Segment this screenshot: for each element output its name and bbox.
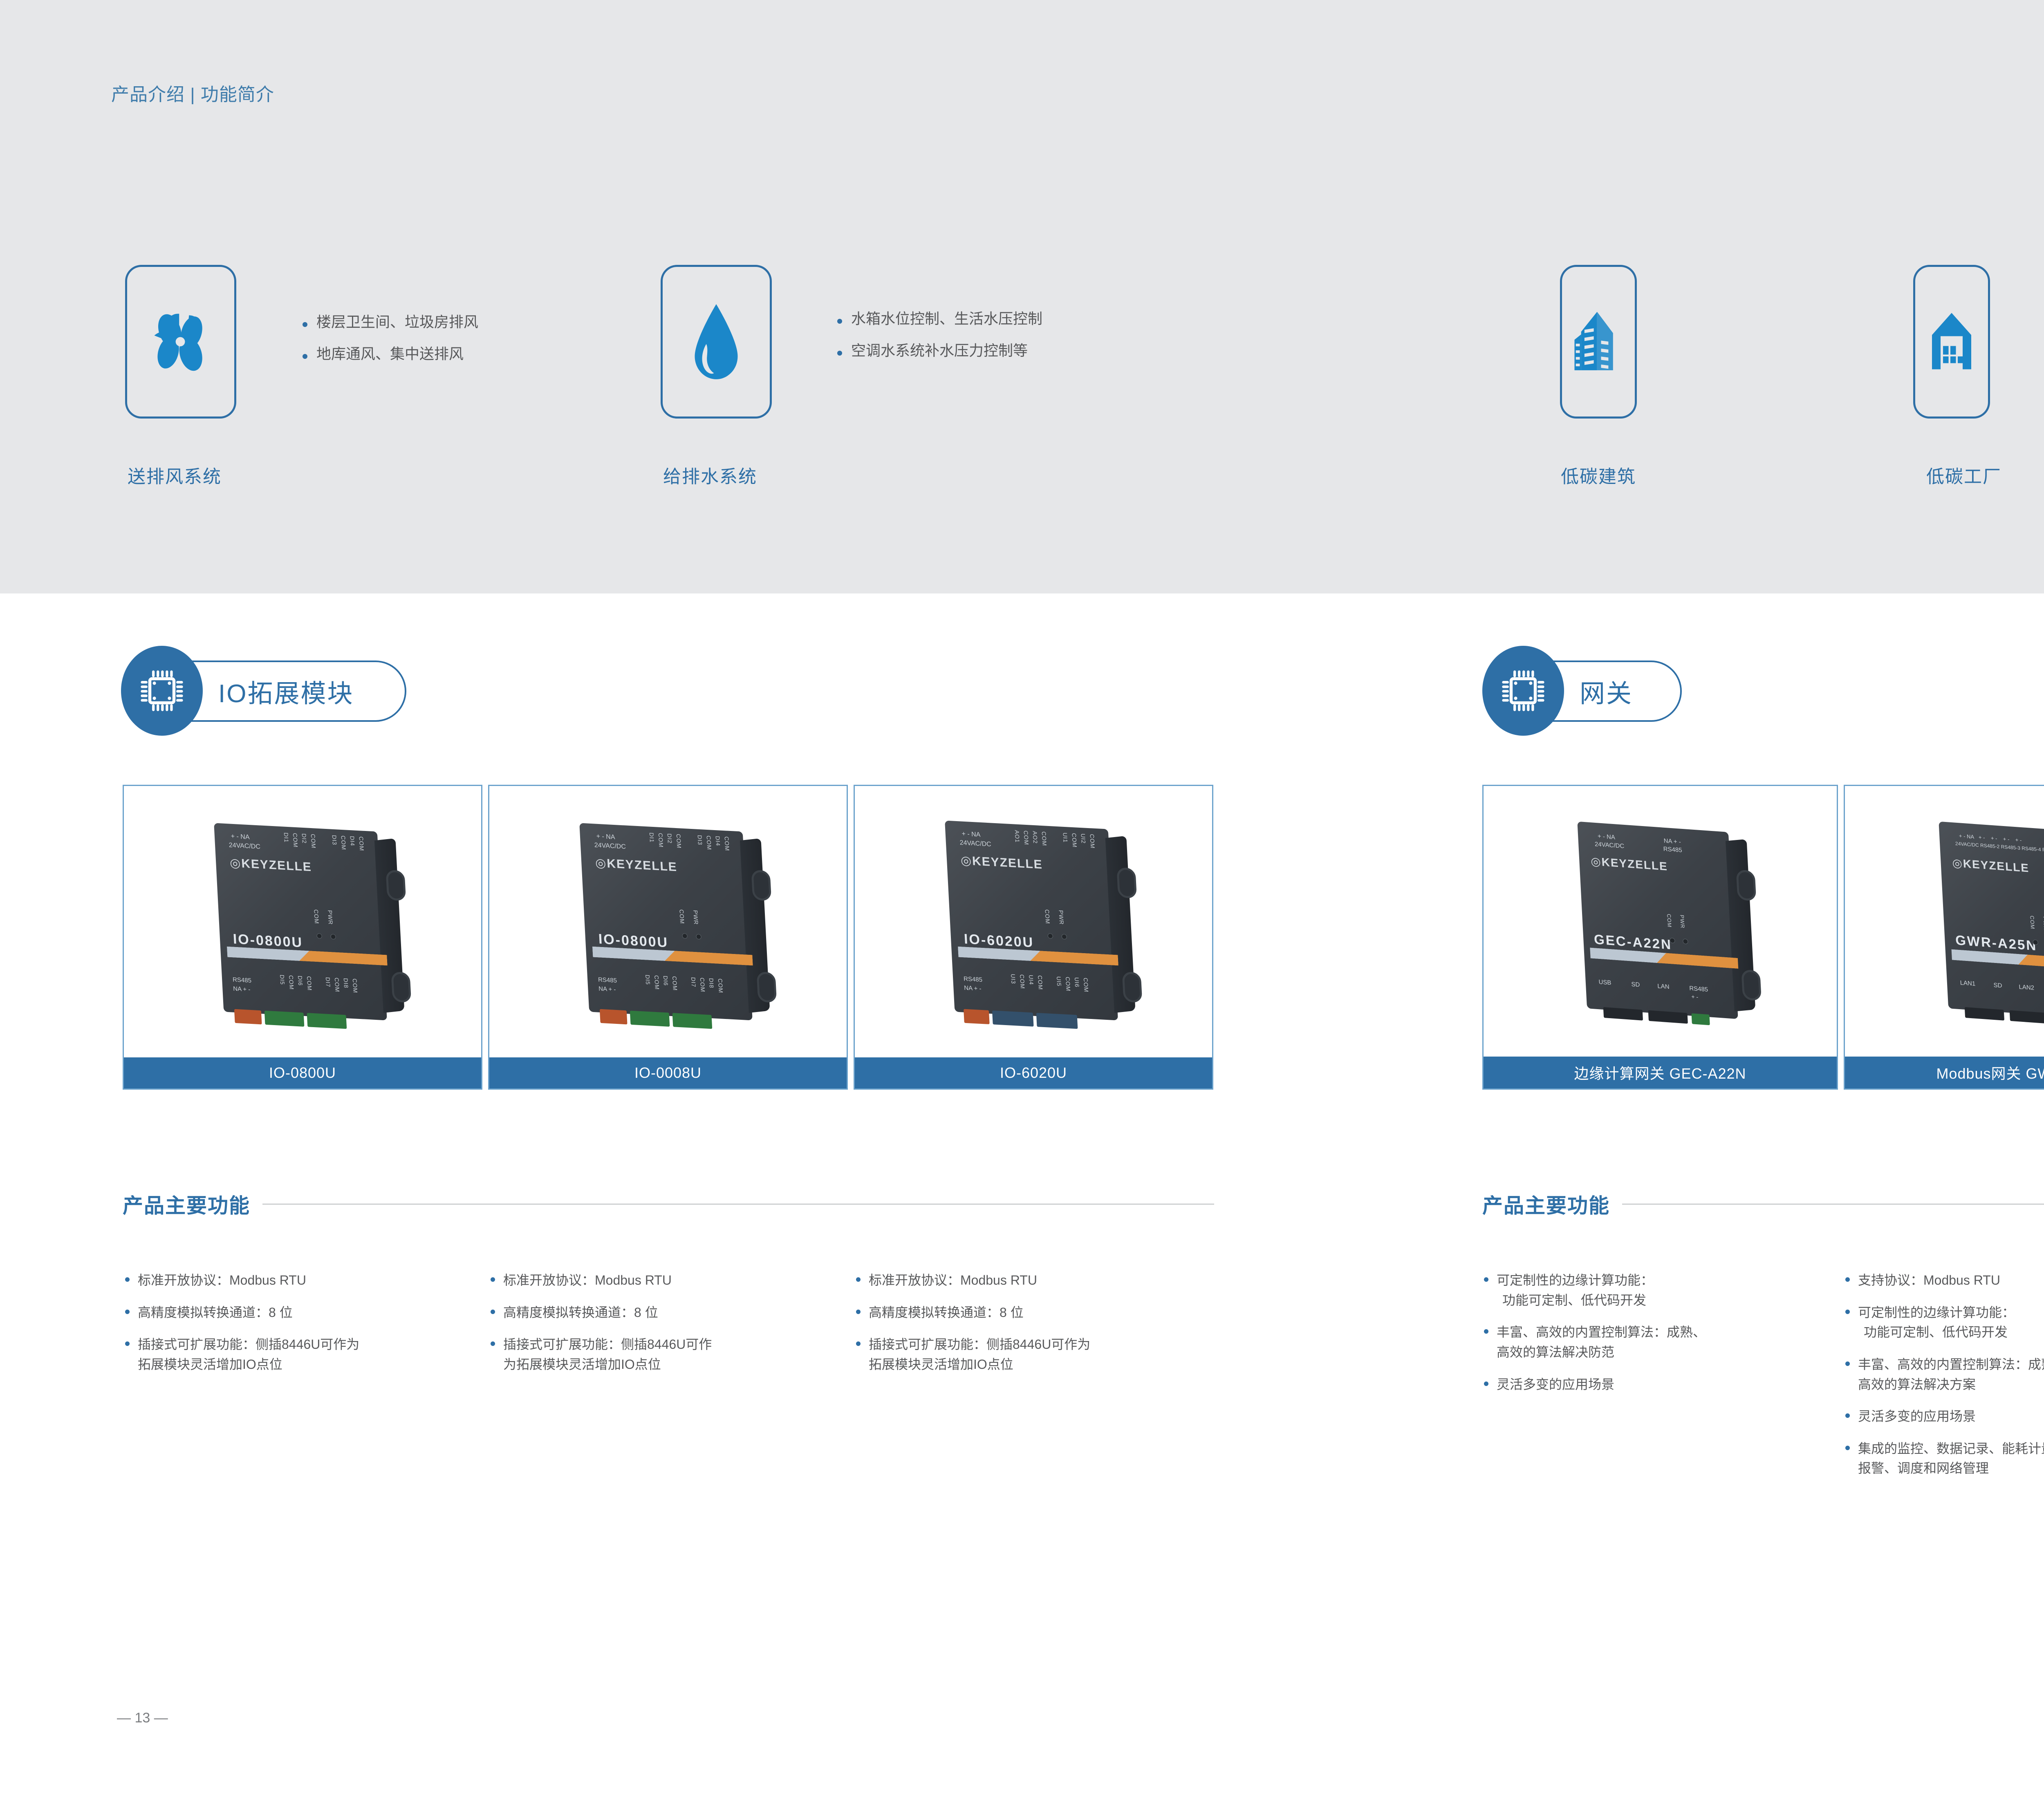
water-bullets: 水箱水位控制、生活水压控制 空调水系统补水压力控制等 [837,311,1042,375]
mount-bracket [391,972,411,1003]
features-title-gateway: 产品主要功能 [1482,1189,1610,1219]
terminal-di5: DI5 [279,974,286,985]
feature-text: 标准开放协议：Modbus RTU [869,1270,1037,1290]
terminal-di2: DI2 [666,833,673,844]
terminal-di4: DI4 [349,836,356,846]
terminal-di7: DI7 [690,977,697,987]
led-pwr [1061,934,1067,940]
list-item: 高精度模拟转换通道：8 位 [125,1303,481,1323]
terminal-ui5: UI5 [1056,976,1062,987]
led-label-pwr: PWR [2042,916,2044,931]
product-card[interactable]: + - NA 24VAC/DC DI1 COM DI2 COM DI3 COM … [123,785,482,1090]
terminal-di7: DI7 [325,977,332,987]
terminal-com: COM [1040,831,1048,846]
connector-orange [234,1009,262,1025]
port-usb: USB [1598,978,1611,986]
feature-text: 灵活多变的应用场景 [1858,1406,1976,1426]
microchip-icon [121,646,203,736]
rs485-pins-top: NA + - [1663,837,1681,846]
bullet-dot [856,1310,861,1314]
device-brand: ◎KEYZELLE [960,853,1043,872]
terminal-di1: DI1 [283,832,290,843]
office-building-icon [1572,301,1625,383]
rs485-label-top: RS485 [1663,846,1682,854]
connector-green [307,1013,347,1029]
connector-orange [964,1009,990,1024]
product-photo: + - NA 24VAC/DC AO1 COM AO2 COM UI1 COM … [855,786,1212,1057]
connector-green [1691,1013,1710,1025]
device-brand: ◎KEYZELLE [229,856,312,875]
led-com [1047,933,1053,939]
list-item: 插接式可扩展功能：侧插8446U可作为 拓展模块灵活增加IO点位 [125,1335,481,1374]
terminal-com: COM [675,834,683,849]
terminal-com: COM [1089,834,1096,849]
product-label: 边缘计算网关 GEC-A22N [1484,1057,1837,1088]
list-item: 高精度模拟转换通道：8 位 [491,1303,846,1323]
device-brand: ◎KEYZELLE [595,856,677,875]
port-block [1603,1007,1643,1021]
feature-text: 灵活多变的应用场景 [1497,1375,1614,1395]
feature-column-io-3: 标准开放协议：Modbus RTU 高精度模拟转换通道：8 位 插接式可扩展功能… [856,1270,1216,1387]
terminal-com: COM [671,976,679,991]
product-photo: + - NA 24VAC/DC DI1 COM DI2 COM DI3 COM … [489,786,847,1057]
product-label: IO-0008U [489,1057,847,1088]
features-heading-io: 产品主要功能 [123,1189,1214,1219]
mount-bracket [1741,970,1762,1001]
list-item: 丰富、高效的内置控制算法：成熟、 高效的算法解决防范 [1484,1322,1836,1362]
feature-text: 丰富、高效的内置控制算法：成熟、 高效的算法解决防范 [1497,1322,1706,1362]
bullet-text: 楼层卫生间、垃圾房排风 [316,315,478,329]
scenario-caption-factory: 低碳工厂 [1926,462,2001,488]
rs485-label: RS485 [233,976,252,984]
list-item: 灵活多变的应用场景 [1484,1375,1836,1395]
terminal-com: COM [358,836,365,851]
mount-bracket [756,972,777,1003]
terminal-di6: DI6 [662,976,669,986]
list-item: 灵活多变的应用场景 [1845,1406,2044,1426]
divider-rule [262,1204,1214,1205]
connector-blue [992,1010,1034,1026]
microchip-icon [1482,646,1564,736]
led-label-com: COM [1044,909,1051,925]
feature-text: 标准开放协议：Modbus RTU [138,1270,306,1290]
terminal-di6: DI6 [297,976,304,986]
product-card[interactable]: + - NA 24VAC/DC AO1 COM AO2 COM UI1 COM … [854,785,1213,1090]
power-pins: + - NA [596,833,615,841]
terminal-ui2: UI2 [1080,833,1087,844]
page-number-left: — 13 — [117,1710,168,1726]
feature-text: 插接式可扩展功能：侧插8446U可作 为拓展模块灵活增加IO点位 [503,1335,712,1374]
bullet-dot [491,1310,495,1314]
device-io-0008u: + - NA 24VAC/DC DI1 COM DI2 COM DI3 COM … [572,815,764,1028]
terminal-ao1: AO1 [1014,830,1021,843]
list-item: 丰富、高效的内置控制算法：成熟、 高效的算法解决方案 [1845,1355,2044,1394]
feature-column-gw-2: 支持协议：Modbus RTU 可定制性的边缘计算功能： 功能可定制、低代码开发… [1845,1270,2044,1491]
power-pins: + - NA [231,833,250,841]
product-photo: + - NA + - + - + - + - 24VAC/DC RS485-2 … [1845,786,2044,1057]
port-lan2: LAN2 [2019,983,2034,992]
connector-blue [1036,1013,1078,1029]
bullet-dot [837,319,842,324]
bullet-dot [837,351,842,356]
product-photo: + - NA 24VAC/DC NA + - RS485 ◎KEYZELLE G… [1484,786,1837,1057]
bullet-text: 水箱水位控制、生活水压控制 [851,311,1042,326]
bullet-dot [1845,1413,1850,1418]
feature-text: 标准开放协议：Modbus RTU [503,1270,672,1290]
terminal-com: COM [340,835,347,851]
terminal-com: COM [1023,831,1030,846]
list-item: 楼层卫生间、垃圾房排风 [303,315,478,329]
terminal-di2: DI2 [301,833,308,844]
port-lan1: LAN1 [1960,979,1975,987]
connector-green [264,1011,305,1027]
features-heading-gateway: 产品主要功能 [1482,1189,2044,1219]
bullet-dot [491,1277,495,1282]
terminal-com: COM [1037,975,1044,990]
bullet-dot [856,1341,861,1346]
fan-bullets: 楼层卫生间、垃圾房排风 地库通风、集中送排风 [303,315,478,378]
list-item: 集成的监控、数据记录、能耗计量、 报警、调度和网络管理 [1845,1439,2044,1478]
bullet-dot [1484,1382,1488,1386]
device-io-0800u: + - NA 24VAC/DC DI1 COM DI2 COM DI3 COM … [206,815,399,1028]
mount-bracket [1736,869,1757,901]
port-rs485-pins: + - [1691,993,1699,1000]
led-label-com: COM [2029,916,2036,930]
led-label-pwr: PWR [1679,915,1686,929]
feature-text: 可定制性的边缘计算功能： 功能可定制、低代码开发 [1497,1270,1654,1310]
power-label: 24VAC/DC [1595,841,1625,850]
terminal-com: COM [657,833,665,848]
port-rs485: RS485 [1689,985,1708,993]
terminal-com: COM [306,976,313,991]
device-gwr-a25n: + - NA + - + - + - + - 24VAC/DC RS485-2 … [1934,817,2044,1026]
rs485-label: RS485 [598,976,617,984]
scenario-card-building [1560,265,1637,419]
factory-icon [1927,301,1976,383]
bullet-dot [1845,1446,1850,1450]
section-title-gateway: 网关 [1580,673,1633,710]
scenario-caption-building: 低碳建筑 [1561,462,1636,488]
product-card[interactable]: + - NA 24VAC/DC NA + - RS485 ◎KEYZELLE G… [1482,785,1838,1090]
rs485-label: RS485 [964,975,983,983]
mount-bracket [385,870,406,901]
list-item: 地库通风、集中送排风 [303,347,478,361]
top-gray-band [0,0,2044,593]
list-item: 可定制性的边缘计算功能： 功能可定制、低代码开发 [1845,1303,2044,1342]
application-card-water [661,265,772,419]
rs485-pins: NA + - [964,985,982,992]
feature-column-io-1: 标准开放协议：Modbus RTU 高精度模拟转换通道：8 位 插接式可扩展功能… [125,1270,481,1387]
section-header-gateways: 网关 [1482,646,1728,736]
port-lan: LAN [1657,983,1670,990]
terminal-com: COM [1071,833,1078,848]
section-title-io: IO拓展模块 [218,673,354,710]
feature-text: 高精度模拟转换通道：8 位 [503,1303,658,1323]
terminal-ui4: UI4 [1028,975,1035,985]
application-card-fan [125,265,236,419]
section-header-io-modules: IO拓展模块 [121,646,432,736]
led-label-com: COM [313,909,320,925]
terminal-com: COM [292,833,299,848]
terminal-com: COM [1019,974,1026,990]
rs485-pins: NA + - [598,985,616,993]
scenario-card-factory [1913,265,1990,419]
terminal-com: COM [706,835,713,851]
power-label: 24VAC/DC [229,842,260,851]
feature-text: 丰富、高效的内置控制算法：成熟、 高效的算法解决方案 [1858,1355,2044,1394]
led-label-com: COM [678,909,686,925]
bullet-dot [125,1310,130,1314]
bullet-dot [1845,1361,1850,1366]
product-label: Modbus网关 GWR-A25N [1845,1057,2044,1088]
bullet-dot [1484,1277,1488,1282]
features-title-io: 产品主要功能 [123,1189,250,1219]
terminal-di3: DI3 [331,835,338,846]
power-label: 24VAC/DC [959,839,991,848]
bullet-dot [303,354,307,359]
bullet-dot [1484,1329,1488,1334]
terminal-com: COM [723,836,731,851]
connector-orange [600,1009,628,1025]
port-block [2010,1010,2044,1024]
application-caption-fan: 送排风系统 [128,462,222,488]
power-pins: + - NA [961,831,981,839]
feature-text: 支持协议：Modbus RTU [1858,1270,2000,1290]
bullet-dot [125,1341,130,1346]
list-item: 支持协议：Modbus RTU [1845,1270,2044,1290]
device-brand: ◎KEYZELLE [1590,854,1668,873]
feature-text: 可定制性的边缘计算功能： 功能可定制、低代码开发 [1858,1303,2015,1342]
list-item: 标准开放协议：Modbus RTU [125,1270,481,1290]
terminal-ao2: AO2 [1032,831,1039,844]
terminal-com: COM [310,834,317,849]
led-label-pwr: PWR [692,910,699,925]
terminal-com: COM [334,977,341,992]
mount-bracket [1122,972,1143,1003]
terminal-com: COM [1083,978,1090,993]
device-gec-a22n: + - NA 24VAC/DC NA + - RS485 ◎KEYZELLE G… [1572,817,1748,1026]
terminal-com: COM [352,978,359,994]
led-label-pwr: PWR [1058,910,1065,925]
list-item: 标准开放协议：Modbus RTU [491,1270,846,1290]
feature-column-gw-1: 可定制性的边缘计算功能： 功能可定制、低代码开发 丰富、高效的内置控制算法：成熟… [1484,1270,1836,1406]
bullet-dot [1845,1310,1850,1314]
power-pins: + - NA [1598,833,1616,841]
feature-text: 插接式可扩展功能：侧插8446U可作为 拓展模块灵活增加IO点位 [138,1335,359,1374]
feature-text: 高精度模拟转换通道：8 位 [869,1303,1024,1323]
led-pwr [696,934,702,940]
terminal-com: COM [653,975,661,990]
port-block [1965,1007,2004,1021]
list-item: 插接式可扩展功能：侧插8446U可作 为拓展模块灵活增加IO点位 [491,1335,846,1374]
product-photo: + - NA 24VAC/DC DI1 COM DI2 COM DI3 COM … [124,786,481,1057]
product-label: IO-6020U [855,1057,1212,1088]
bullet-dot [491,1341,495,1346]
led-pwr [330,934,336,940]
terminal-di5: DI5 [644,974,651,985]
terminal-labels-row: 24VAC/DC RS485-2 RS485-3 RS485-4 RA485-5 [1955,841,2044,854]
terminal-ui3: UI3 [1010,974,1017,984]
list-item: 空调水系统补水压力控制等 [837,343,1042,358]
product-label: IO-0800U [124,1057,481,1088]
bullet-dot [856,1277,861,1282]
terminal-ui6: UI6 [1074,977,1080,988]
mount-bracket [751,870,771,901]
terminal-ui1: UI1 [1062,833,1069,843]
connector-green [630,1011,670,1027]
feature-text: 集成的监控、数据记录、能耗计量、 报警、调度和网络管理 [1858,1439,2044,1478]
feature-text: 插接式可扩展功能：侧插8446U可作为 拓展模块灵活增加IO点位 [869,1335,1090,1374]
terminal-com: COM [717,978,724,994]
connector-green [672,1013,713,1029]
port-sd: SD [1993,982,2002,990]
led-pwr [1683,938,1688,944]
terminal-di8: DI8 [708,978,715,989]
list-item: 插接式可扩展功能：侧插8446U可作为 拓展模块灵活增加IO点位 [856,1335,1216,1374]
bullet-text: 空调水系统补水压力控制等 [851,343,1028,358]
led-label-com: COM [1666,914,1673,928]
device-io-6020u: + - NA 24VAC/DC AO1 COM AO2 COM UI1 COM … [937,815,1130,1028]
terminal-di3: DI3 [697,835,704,846]
fan-icon [142,301,220,383]
product-card[interactable]: + - NA + - + - + - + - 24VAC/DC RS485-2 … [1844,785,2044,1090]
list-item: 高精度模拟转换通道：8 位 [856,1303,1216,1323]
port-block [1648,1010,1688,1024]
port-sd: SD [1631,981,1640,989]
divider-rule [1622,1204,2044,1205]
running-header-left: 产品介绍 | 功能简介 [111,80,274,106]
terminal-com: COM [288,975,295,990]
led-com [682,933,688,939]
device-brand: ◎KEYZELLE [1952,856,2030,875]
terminal-di1: DI1 [648,832,655,843]
water-drop-icon [686,299,747,385]
mount-bracket [1116,867,1137,899]
list-item: 标准开放协议：Modbus RTU [856,1270,1216,1290]
bullet-dot [1845,1277,1850,1282]
terminal-di8: DI8 [343,978,350,989]
power-label: 24VAC/DC [594,842,626,851]
led-label-pwr: PWR [327,910,334,925]
feature-column-io-2: 标准开放协议：Modbus RTU 高精度模拟转换通道：8 位 插接式可扩展功能… [491,1270,846,1387]
terminal-di4: DI4 [715,836,722,846]
list-item: 水箱水位控制、生活水压控制 [837,311,1042,326]
application-caption-water: 给排水系统 [663,462,757,488]
bullet-dot [125,1277,130,1282]
list-item: 可定制性的边缘计算功能： 功能可定制、低代码开发 [1484,1270,1836,1310]
terminal-com: COM [1065,976,1072,992]
bullet-text: 地库通风、集中送排风 [316,347,464,361]
feature-text: 高精度模拟转换通道：8 位 [138,1303,293,1323]
product-card[interactable]: + - NA 24VAC/DC DI1 COM DI2 COM DI3 COM … [488,785,848,1090]
led-com [316,933,322,939]
rs485-pins: NA + - [233,985,251,993]
terminal-com: COM [699,977,706,992]
bullet-dot [303,322,307,327]
